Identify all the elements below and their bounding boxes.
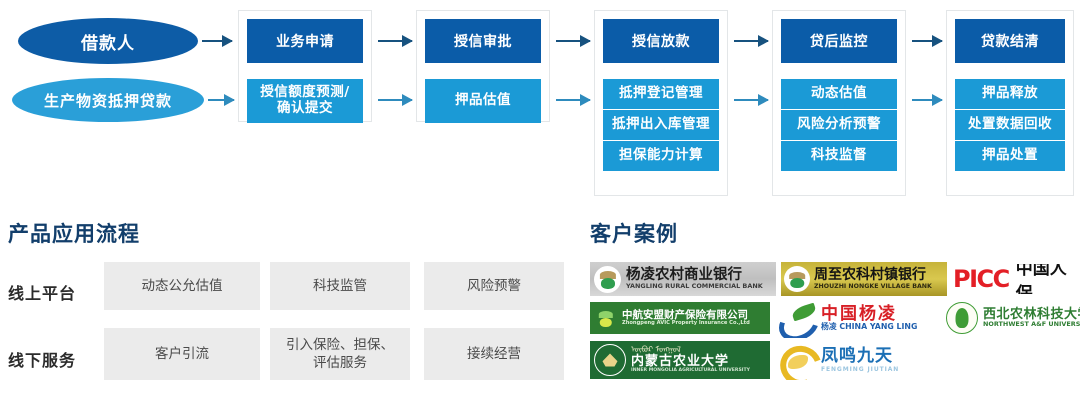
arrow-borrower-to-stage1 bbox=[202, 40, 232, 42]
phoenix-icon bbox=[778, 343, 818, 377]
section-title-cases: 客户案例 bbox=[590, 218, 678, 248]
stage4-sub-2[interactable]: 科技监督 bbox=[781, 141, 897, 171]
offline-cell-line2: 评估服务 bbox=[313, 354, 367, 372]
logo-4-cn: 中航安盟财产保险有限公司 bbox=[622, 310, 761, 321]
stage5-head: 贷款结清 bbox=[955, 19, 1065, 63]
arrow-stage4-to-stage5-bottom bbox=[912, 99, 942, 101]
stage5-sub-0[interactable]: 押品释放 bbox=[955, 79, 1065, 110]
leaf-emblem-icon bbox=[594, 306, 618, 330]
stage5-sub-2[interactable]: 押品处置 bbox=[955, 141, 1065, 171]
process-cell-offline-2[interactable]: 接续经营 bbox=[424, 328, 564, 380]
logo-5-cn: 中国杨凌 bbox=[821, 306, 926, 324]
logo-1-cn: 杨凌农村商业银行 bbox=[626, 268, 775, 283]
stage4-sub-1[interactable]: 风险分析预警 bbox=[781, 110, 897, 141]
stage2-sub-0[interactable]: 押品估值 bbox=[425, 79, 541, 123]
logo-avic-property-insurance[interactable]: 中航安盟财产保险有限公司 Zhongpeng AVIC Property Ins… bbox=[590, 302, 770, 334]
stage5-sub-1[interactable]: 处置数据回收 bbox=[955, 110, 1065, 141]
stage3-sub-1[interactable]: 抵押出入库管理 bbox=[603, 110, 719, 141]
stage-post-loan-monitoring[interactable]: 贷后监控 动态估值 风险分析预警 科技监督 bbox=[772, 10, 906, 196]
logo-7-en: INNER MONGOLIA AGRICULTURAL UNIVERSITY bbox=[631, 369, 750, 374]
university-seal-icon bbox=[594, 344, 626, 376]
picc-wordmark: PICC bbox=[953, 265, 1009, 293]
arrow-stage3-to-stage4-top bbox=[734, 40, 768, 42]
process-cell-offline-0[interactable]: 客户引流 bbox=[104, 328, 260, 380]
picc-cn: 中国人保 bbox=[1016, 264, 1079, 294]
process-cell-online-1[interactable]: 科技监管 bbox=[270, 262, 410, 310]
arrow-stage2-to-stage3-bottom bbox=[556, 99, 590, 101]
swoosh-icon bbox=[778, 304, 818, 334]
process-cell-offline-1[interactable]: 引入保险、担保、 评估服务 bbox=[270, 328, 410, 380]
stage4-head: 贷后监控 bbox=[781, 19, 897, 63]
section-title-process: 产品应用流程 bbox=[8, 218, 140, 248]
process-cell-online-0[interactable]: 动态公允估值 bbox=[104, 262, 260, 310]
product-application-process-table: 线上平台 动态公允估值 科技监管 风险预警 线下服务 客户引流 引入保险、担保、… bbox=[0, 258, 580, 398]
logo-china-yangling[interactable]: 中国杨凌 杨凌 CHINA YANG LING bbox=[778, 300, 940, 338]
customer-case-logos: 杨凌农村商业银行 YANGLING RURAL COMMERCIAL BANK … bbox=[588, 256, 1080, 396]
logo-fengming-jiutian[interactable]: 凤鸣九天 FENGMING JIUTIAN bbox=[778, 340, 930, 380]
stage-business-application[interactable]: 业务申请 授信额度预测/ 确认提交 bbox=[238, 10, 372, 122]
stage3-sub-0[interactable]: 抵押登记管理 bbox=[603, 79, 719, 110]
arrow-stage1-to-stage2-bottom bbox=[378, 99, 412, 101]
stage1-sub-0-line2: 确认提交 bbox=[277, 101, 333, 117]
stage3-sub-2[interactable]: 担保能力计算 bbox=[603, 141, 719, 171]
logo-6-en: NORTHWEST A&F UNIVERSITY bbox=[983, 321, 1080, 328]
process-flow-diagram: 借款人 生产物资抵押贷款 业务申请 授信额度预测/ 确认提交 授信审批 押品估值 bbox=[0, 0, 1080, 205]
entity-production-material-mortgage-loan[interactable]: 生产物资抵押贷款 bbox=[12, 78, 204, 122]
logo-4-en: Zhongpeng AVIC Property Insurance Co.,Lt… bbox=[622, 321, 750, 326]
logo-2-cn: 周至农科村镇银行 bbox=[814, 268, 942, 283]
logo-6-cn: 西北农林科技大学 bbox=[983, 308, 1080, 322]
arrow-stage4-to-stage5-top bbox=[912, 40, 942, 42]
stage1-sub-0[interactable]: 授信额度预测/ 确认提交 bbox=[247, 79, 363, 123]
logo-5-en: 杨凌 CHINA YANG LING bbox=[821, 324, 917, 332]
leaf-emblem-icon bbox=[594, 266, 621, 293]
entity-borrower[interactable]: 借款人 bbox=[18, 18, 198, 64]
entity-loan-label: 生产物资抵押贷款 bbox=[44, 90, 172, 111]
logo-zhouzhi-nongke-village-bank[interactable]: 周至农科村镇银行 ZHOUZHI NONGKE VILLAGE BANK bbox=[781, 262, 947, 296]
stage2-head: 授信审批 bbox=[425, 19, 541, 63]
arrow-stage1-to-stage2-top bbox=[378, 40, 412, 42]
row-label-online-platform: 线上平台 bbox=[8, 280, 76, 304]
logo-2-en: ZHOUZHI NONGKE VILLAGE BANK bbox=[814, 283, 932, 290]
stage1-head: 业务申请 bbox=[247, 19, 363, 63]
stage3-head: 授信放款 bbox=[603, 19, 719, 63]
arrow-loan-to-stage1 bbox=[208, 99, 234, 101]
arrow-stage3-to-stage4-bottom bbox=[734, 99, 768, 101]
stage1-sub-0-line1: 授信额度预测/ bbox=[260, 85, 349, 101]
university-seal-icon bbox=[946, 302, 978, 334]
logo-inner-mongolia-agricultural-university[interactable]: ᠦᠪᠦᠷ ᠮᠣᠩᠭᠣᠯ 内蒙古农业大学 INNER MONGOLIA AGRIC… bbox=[590, 341, 770, 379]
process-cell-online-2[interactable]: 风险预警 bbox=[424, 262, 564, 310]
entity-borrower-label: 借款人 bbox=[81, 29, 135, 54]
logo-1-en: YANGLING RURAL COMMERCIAL BANK bbox=[626, 283, 763, 290]
stage4-sub-0[interactable]: 动态估值 bbox=[781, 79, 897, 110]
logo-8-cn: 凤鸣九天 bbox=[821, 348, 906, 366]
stage-loan-settlement[interactable]: 贷款结清 押品释放 处置数据回收 押品处置 bbox=[946, 10, 1074, 196]
leaf-emblem-icon bbox=[784, 266, 810, 292]
stage-credit-disbursement[interactable]: 授信放款 抵押登记管理 抵押出入库管理 担保能力计算 bbox=[594, 10, 728, 196]
arrow-stage2-to-stage3-top bbox=[556, 40, 590, 42]
stage-credit-approval[interactable]: 授信审批 押品估值 bbox=[416, 10, 550, 122]
logo-8-en: FENGMING JIUTIAN bbox=[821, 366, 899, 372]
logo-yangling-rural-commercial-bank[interactable]: 杨凌农村商业银行 YANGLING RURAL COMMERCIAL BANK bbox=[590, 262, 776, 296]
offline-cell-line1: 引入保险、担保、 bbox=[286, 336, 394, 354]
logo-picc[interactable]: PICC 中国人保 bbox=[953, 264, 1079, 294]
row-label-offline-service: 线下服务 bbox=[8, 347, 76, 371]
logo-northwest-af-university[interactable]: 西北农林科技大学 NORTHWEST A&F UNIVERSITY bbox=[946, 298, 1080, 338]
